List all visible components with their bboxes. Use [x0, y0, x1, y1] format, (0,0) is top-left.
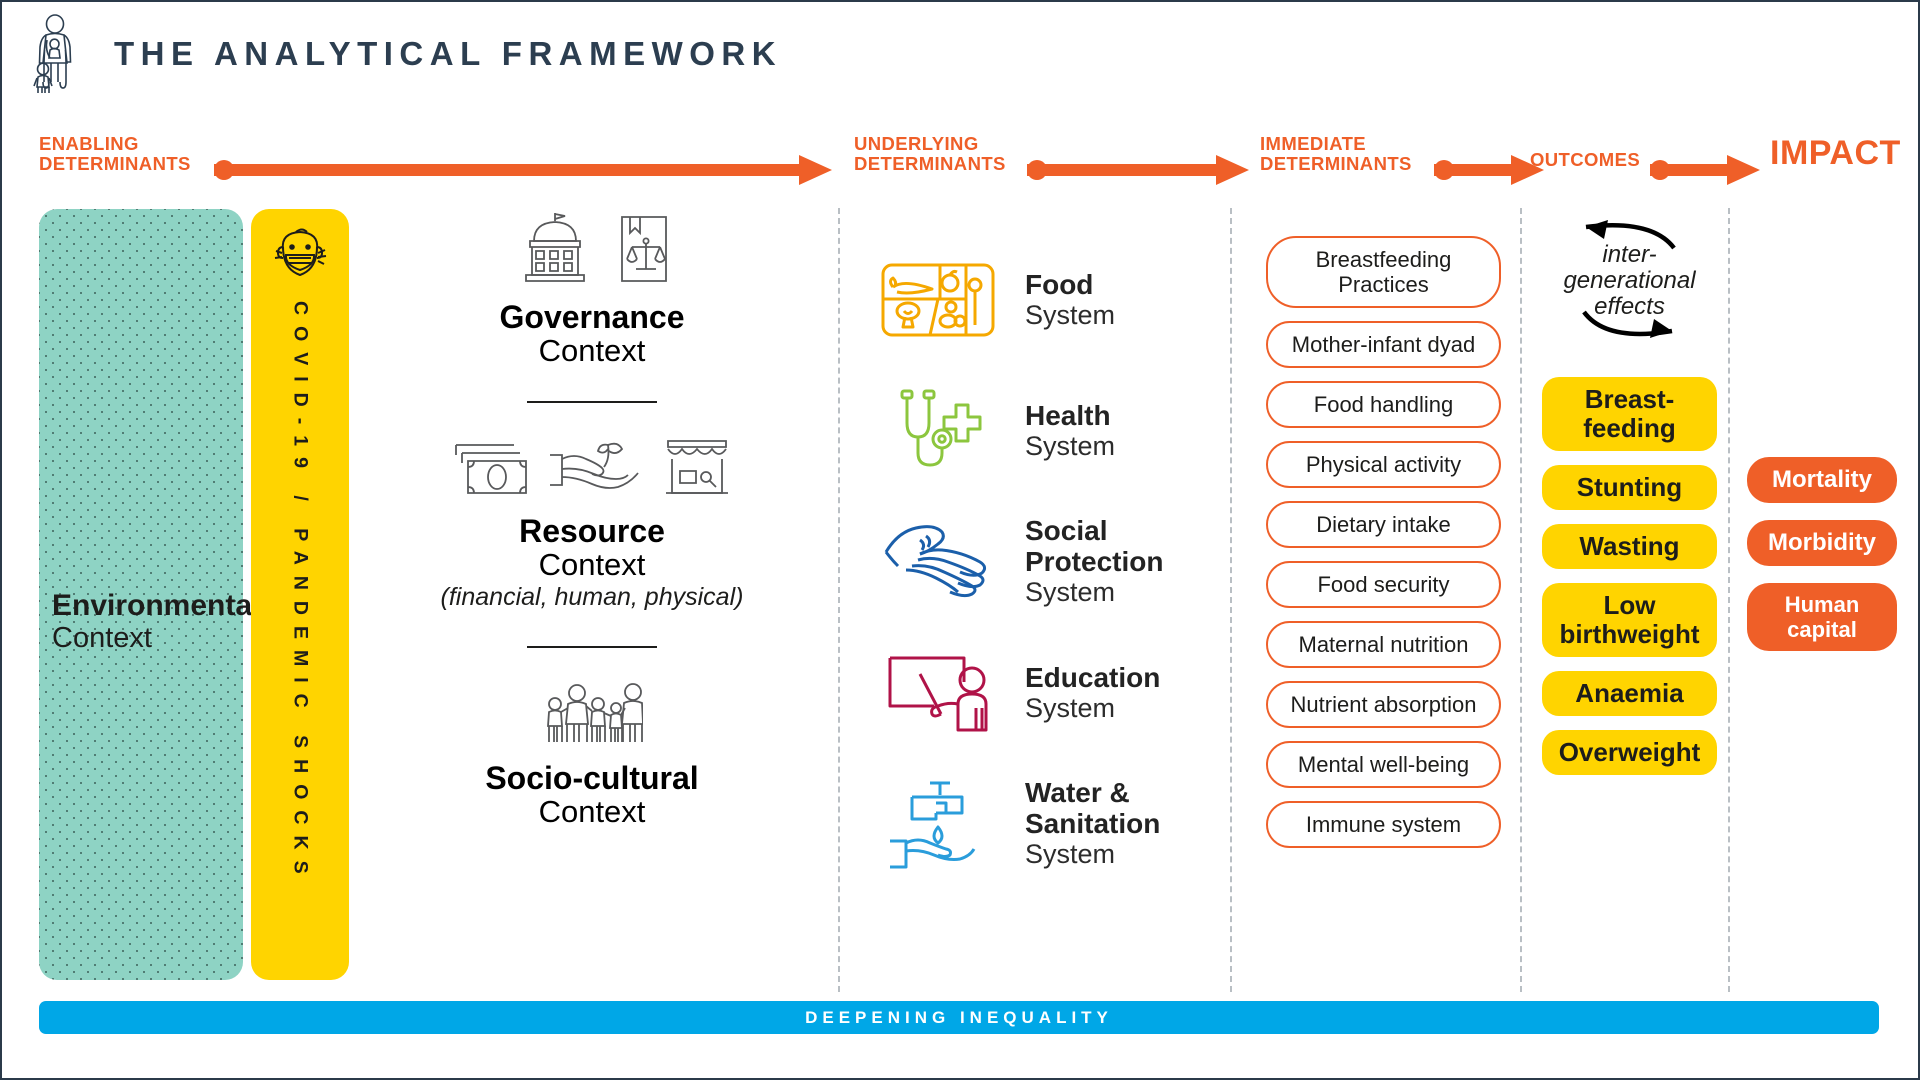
- arrow-enabling-to-underlying: [214, 155, 832, 185]
- immediate-pill[interactable]: Mother-infant dyad: [1266, 321, 1501, 368]
- social-protection-subtitle: System: [1025, 577, 1163, 608]
- education-system-label: Education System: [1025, 662, 1160, 724]
- system-row: Water & Sanitation System: [877, 758, 1207, 889]
- outcomes-column: inter- generational effects Breast-feedi…: [1542, 214, 1717, 789]
- covid-label: COVID-19 / PANDEMIC SHOCKS: [251, 301, 349, 961]
- impact-pill[interactable]: Mortality: [1747, 457, 1897, 503]
- socio-cultural-title: Socio-cultural: [382, 762, 802, 795]
- environmental-context-label: Environmental Context: [52, 589, 242, 655]
- arrow-immediate-to-outcomes: [1434, 155, 1544, 185]
- intergenerational-effects: inter- generational effects: [1542, 214, 1717, 349]
- government-building-icon: [512, 209, 598, 285]
- outcome-pill[interactable]: Low birthweight: [1542, 583, 1717, 657]
- intergen-line-3: effects: [1542, 294, 1717, 320]
- band-label-immediate: IMMEDIATE DETERMINANTS: [1260, 134, 1412, 174]
- band-label-underlying: UNDERLYING DETERMINANTS: [854, 134, 1006, 174]
- outcome-pill[interactable]: Breast-feeding: [1542, 377, 1717, 451]
- arrow-outcomes-to-impact: [1650, 155, 1760, 185]
- food-system-subtitle: System: [1025, 300, 1115, 331]
- health-system-title: Health: [1025, 400, 1115, 431]
- intergenerational-effects-label: inter- generational effects: [1542, 242, 1717, 320]
- water-sanitation-label: Water & Sanitation System: [1025, 777, 1160, 870]
- column-separator-4: [1728, 208, 1730, 992]
- governance-subtitle: Context: [382, 334, 802, 367]
- governance-title: Governance: [382, 301, 802, 334]
- intergen-line-2: generational: [1542, 268, 1717, 294]
- determinants-arrow-band: ENABLING DETERMINANTS UNDERLYING DETERMI…: [2, 128, 1920, 190]
- socio-cultural-context-block: Socio-cultural Context: [382, 682, 802, 828]
- social-protection-title-1: Social: [1025, 515, 1163, 546]
- immediate-pill[interactable]: Immune system: [1266, 801, 1501, 848]
- band-label-impact: IMPACT: [1770, 134, 1901, 173]
- enabling-determinants-column: Governance Context: [382, 209, 802, 828]
- immediate-pill[interactable]: Food handling: [1266, 381, 1501, 428]
- stethoscope-cross-icon: [890, 387, 986, 475]
- water-sanitation-icon-wrap: [877, 779, 999, 869]
- immediate-pill[interactable]: Nutrient absorption: [1266, 681, 1501, 728]
- column-separator-1: [838, 208, 840, 992]
- education-system-subtitle: System: [1025, 693, 1160, 724]
- water-sanitation-subtitle: System: [1025, 839, 1160, 870]
- teacher-blackboard-icon: [886, 652, 990, 734]
- helping-hands-icon: [882, 522, 994, 602]
- food-system-title: Food: [1025, 269, 1115, 300]
- column-separator-2: [1230, 208, 1232, 992]
- health-system-label: Health System: [1025, 400, 1115, 462]
- resource-title: Resource: [382, 515, 802, 548]
- immediate-pill[interactable]: Physical activity: [1266, 441, 1501, 488]
- health-system-subtitle: System: [1025, 431, 1115, 462]
- outcome-pill[interactable]: Wasting: [1542, 524, 1717, 569]
- outcome-pill[interactable]: Anaemia: [1542, 671, 1717, 716]
- intergen-line-1: inter-: [1542, 242, 1717, 268]
- environmental-context-panel: Environmental Context: [39, 209, 243, 980]
- system-row: Social Protection System: [877, 496, 1207, 627]
- governance-label: Governance Context: [382, 301, 802, 367]
- impact-column: Mortality Morbidity Human capital: [1747, 457, 1897, 668]
- outcome-pill[interactable]: Stunting: [1542, 465, 1717, 510]
- resource-note: (financial, human, physical): [382, 583, 802, 612]
- deepening-inequality-label: DEEPENING INEQUALITY: [805, 1008, 1113, 1028]
- education-system-icon-wrap: [877, 652, 999, 734]
- system-row: Education System: [877, 627, 1207, 758]
- social-protection-icon-wrap: [877, 522, 999, 602]
- deepening-inequality-bar: DEEPENING INEQUALITY: [39, 1001, 1879, 1034]
- hand-plant-coins-icon: [548, 437, 644, 499]
- impact-pill[interactable]: Morbidity: [1747, 520, 1897, 566]
- mother-child-icon: [30, 14, 92, 94]
- divider-1: [527, 401, 657, 403]
- water-sanitation-title-2: Sanitation: [1025, 808, 1160, 839]
- column-separator-3: [1520, 208, 1522, 992]
- social-protection-title-2: Protection: [1025, 546, 1163, 577]
- page-title: THE ANALYTICAL FRAMEWORK: [114, 35, 782, 73]
- system-row: Health System: [877, 365, 1207, 496]
- impact-pill[interactable]: Human capital: [1747, 583, 1897, 651]
- resource-icons: [382, 437, 802, 499]
- environmental-subtitle: Context: [52, 622, 242, 655]
- shop-storefront-icon: [662, 437, 732, 499]
- covid-pandemic-shocks-panel: COVID-19 / PANDEMIC SHOCKS: [251, 209, 349, 980]
- resource-context-block: Resource Context (financial, human, phys…: [382, 437, 802, 612]
- immediate-determinants-column: Breastfeeding Practices Mother-infant dy…: [1266, 236, 1501, 861]
- health-system-icon-wrap: [877, 387, 999, 475]
- food-system-label: Food System: [1025, 269, 1115, 331]
- resource-subtitle: Context: [382, 548, 802, 581]
- governance-icons: [382, 209, 802, 285]
- law-scales-document-icon: [616, 213, 672, 285]
- band-label-outcomes: OUTCOMES: [1530, 150, 1640, 170]
- socio-cultural-label: Socio-cultural Context: [382, 762, 802, 828]
- framework-diagram: THE ANALYTICAL FRAMEWORK ENABLING DETERM…: [0, 0, 1920, 1080]
- water-sanitation-title-1: Water &: [1025, 777, 1160, 808]
- immediate-pill[interactable]: Maternal nutrition: [1266, 621, 1501, 668]
- socio-cultural-icons: [382, 682, 802, 746]
- divider-2: [527, 646, 657, 648]
- environmental-title: Environmental: [52, 589, 242, 622]
- arrow-underlying-to-immediate: [1027, 155, 1249, 185]
- banknotes-icon: [452, 441, 530, 499]
- underlying-determinants-column: Food System He: [877, 234, 1207, 889]
- immediate-pill[interactable]: Dietary intake: [1266, 501, 1501, 548]
- food-system-icon-wrap: [877, 259, 999, 341]
- immediate-pill[interactable]: Mental well-being: [1266, 741, 1501, 788]
- immediate-pill[interactable]: Food security: [1266, 561, 1501, 608]
- outcome-pill[interactable]: Overweight: [1542, 730, 1717, 775]
- immediate-pill[interactable]: Breastfeeding Practices: [1266, 236, 1501, 308]
- tap-water-hand-icon: [886, 779, 990, 869]
- governance-context-block: Governance Context: [382, 209, 802, 367]
- food-tray-icon: [880, 259, 996, 341]
- system-row: Food System: [877, 234, 1207, 365]
- social-protection-label: Social Protection System: [1025, 515, 1163, 608]
- family-group-icon: [541, 682, 643, 746]
- resource-label: Resource Context (financial, human, phys…: [382, 515, 802, 612]
- education-system-title: Education: [1025, 662, 1160, 693]
- header: THE ANALYTICAL FRAMEWORK: [30, 14, 782, 94]
- socio-cultural-subtitle: Context: [382, 795, 802, 828]
- masked-baby-icon: [269, 225, 331, 283]
- band-label-enabling: ENABLING DETERMINANTS: [39, 134, 191, 174]
